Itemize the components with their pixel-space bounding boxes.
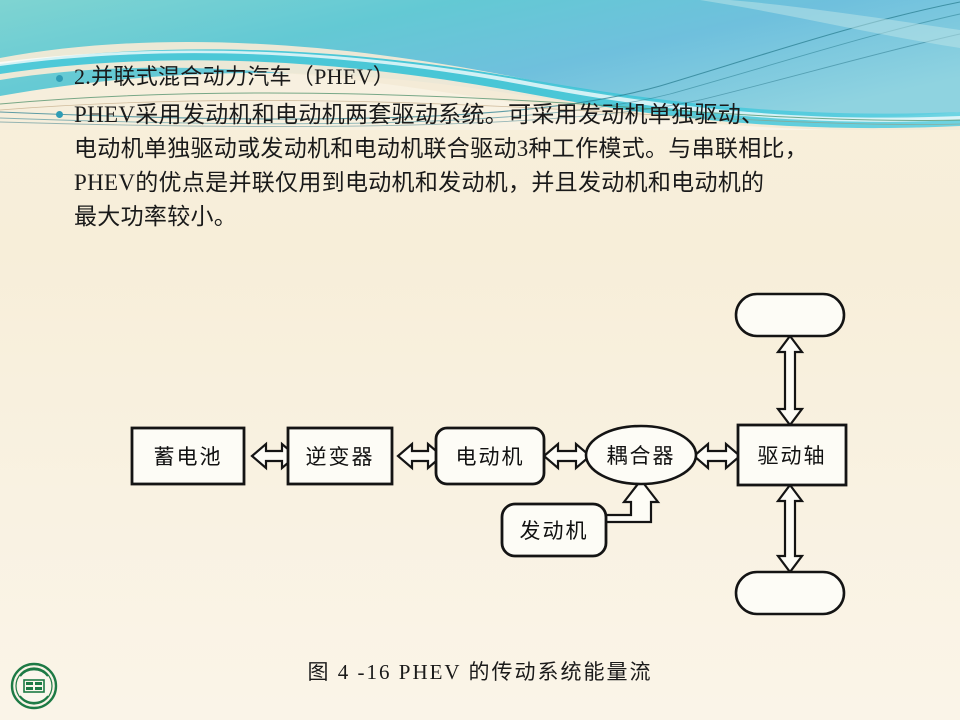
node-engine-label: 发动机 — [520, 519, 589, 543]
edge-driveshaft-wheel-top — [778, 336, 802, 425]
seal-icon — [10, 662, 58, 710]
bullet-text-2: PHEV采用发动机和电动机两套驱动系统。可采用发动机单独驱动、 电动机单独驱动或… — [74, 98, 936, 234]
figure-caption: 图 4 -16 PHEV 的传动系统能量流 — [0, 656, 960, 686]
body-text-block: 2.并联式混合动力汽车（PHEV） PHEV采用发动机和电动机两套驱动系统。可采… — [56, 62, 936, 240]
node-wheel-bottom — [736, 572, 844, 614]
bullet-marker-icon — [56, 62, 74, 82]
node-driveshaft-label: 驱动轴 — [758, 444, 827, 468]
node-coupler: 耦合器 — [586, 426, 696, 484]
node-inverter-label: 逆变器 — [306, 445, 375, 469]
node-engine: 发动机 — [502, 504, 606, 556]
edge-motor-coupler — [544, 444, 590, 468]
node-driveshaft: 驱动轴 — [738, 425, 846, 485]
node-coupler-label: 耦合器 — [607, 444, 676, 468]
node-battery: 蓄电池 — [132, 428, 244, 484]
edge-engine-coupler — [606, 480, 658, 522]
edge-driveshaft-wheel-bottom — [778, 485, 802, 572]
institution-seal-logo — [10, 662, 58, 710]
bullet-text-1: 2.并联式混合动力汽车（PHEV） — [74, 62, 936, 92]
slide-canvas: 2.并联式混合动力汽车（PHEV） PHEV采用发动机和电动机两套驱动系统。可采… — [0, 0, 960, 720]
bullet-item-2: PHEV采用发动机和电动机两套驱动系统。可采用发动机单独驱动、 电动机单独驱动或… — [56, 98, 936, 234]
diagram-svg: 蓄电池 逆变器 电动机 耦合器 驱动轴 — [0, 270, 960, 640]
phev-powertrain-diagram: 蓄电池 逆变器 电动机 耦合器 驱动轴 — [0, 270, 960, 640]
node-battery-label: 蓄电池 — [154, 445, 223, 469]
node-motor-label: 电动机 — [456, 445, 525, 469]
bullet-item-1: 2.并联式混合动力汽车（PHEV） — [56, 62, 936, 92]
bullet-marker-icon — [56, 98, 74, 118]
node-wheel-top — [736, 294, 844, 336]
edge-coupler-driveshaft — [694, 444, 740, 468]
node-motor: 电动机 — [436, 428, 544, 484]
node-inverter: 逆变器 — [288, 428, 392, 484]
